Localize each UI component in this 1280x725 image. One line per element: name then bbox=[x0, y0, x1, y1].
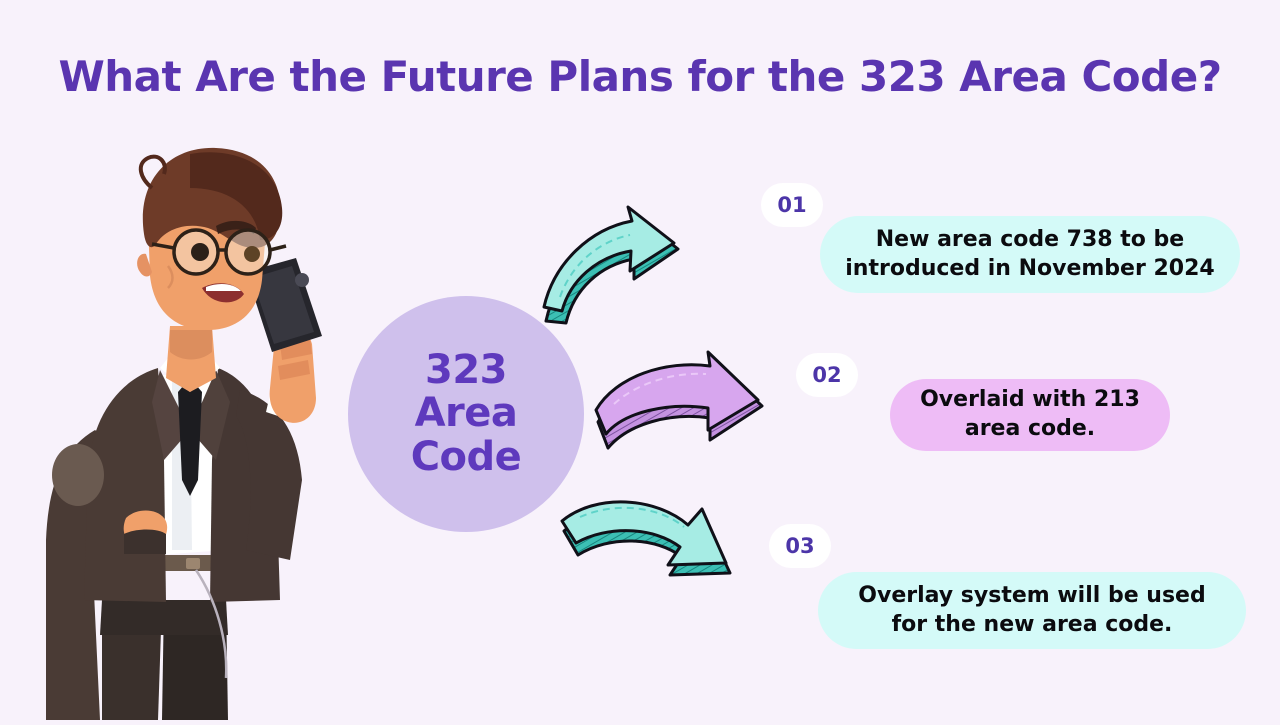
info-box-item-1: New area code 738 to be introduced in No… bbox=[820, 216, 1240, 293]
arrow-2-svg bbox=[592, 348, 768, 462]
arrow-to-item-3-icon bbox=[558, 487, 744, 593]
badge-number: 02 bbox=[812, 363, 841, 387]
center-circle-line-3: Code bbox=[411, 436, 522, 479]
badge-number: 01 bbox=[777, 193, 806, 217]
badge-item-03: 03 bbox=[769, 524, 831, 568]
info-box-item-3: Overlay system will be used for the new … bbox=[818, 572, 1246, 649]
arrow-to-item-2-icon bbox=[592, 348, 768, 462]
badge-item-01: 01 bbox=[761, 183, 823, 227]
arrow-1-svg bbox=[538, 203, 684, 329]
infographic-canvas: What Are the Future Plans for the 323 Ar… bbox=[0, 0, 1280, 720]
businessman-illustration bbox=[40, 130, 370, 720]
businessman-svg bbox=[40, 130, 370, 720]
badge-item-02: 02 bbox=[796, 353, 858, 397]
arrow-to-item-1-icon bbox=[538, 203, 684, 329]
badge-number: 03 bbox=[785, 534, 814, 558]
center-circle-area-code: 323 Area Code bbox=[348, 296, 584, 532]
center-circle-line-1: 323 bbox=[425, 349, 507, 392]
center-circle-line-2: Area bbox=[415, 392, 518, 435]
arrow-3-svg bbox=[558, 487, 744, 593]
info-box-item-2: Overlaid with 213 area code. bbox=[890, 379, 1170, 451]
page-title: What Are the Future Plans for the 323 Ar… bbox=[0, 52, 1280, 101]
